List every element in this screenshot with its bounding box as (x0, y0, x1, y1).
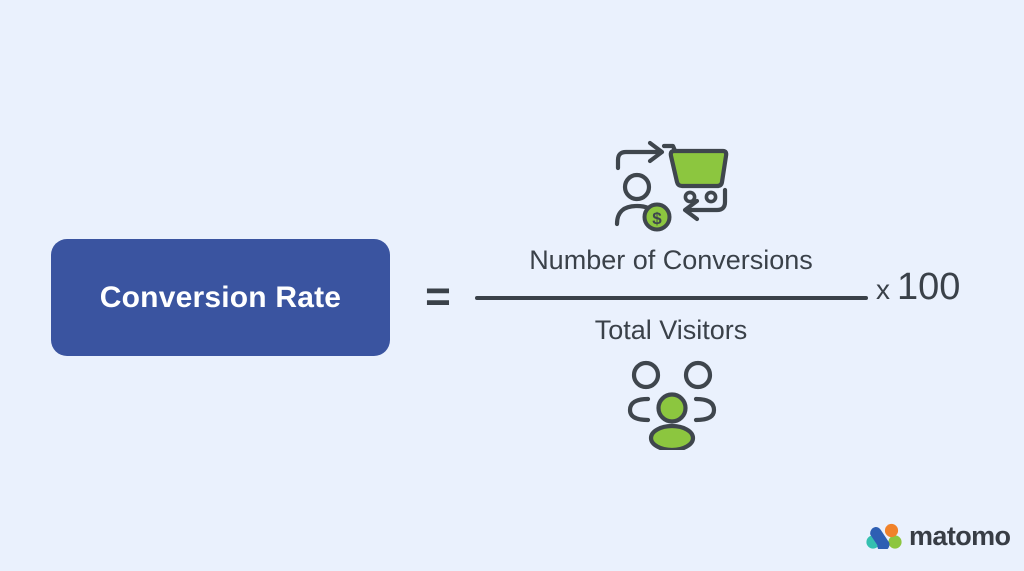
shopping-cart-customer-icon: $ (612, 138, 732, 233)
conversion-rate-term-label: Conversion Rate (100, 281, 341, 315)
svg-text:$: $ (652, 209, 662, 228)
fraction-denominator: Total Visitors (472, 315, 870, 346)
matomo-logo: matomo (866, 521, 1010, 551)
matomo-wordmark: matomo (909, 523, 1010, 550)
fraction-numerator: Number of Conversions (472, 245, 870, 276)
multiplier-group: x100 (876, 268, 960, 306)
multiplication-symbol: x (876, 274, 890, 305)
equals-sign: = (418, 271, 458, 323)
matomo-logo-mark (866, 523, 902, 549)
multiplier-value: 100 (897, 266, 960, 308)
conversion-rate-term-pill: Conversion Rate (51, 239, 390, 356)
conversion-rate-infographic: Conversion Rate = $ (0, 0, 1024, 571)
fraction-bar (475, 296, 868, 300)
visitors-group-icon (624, 358, 720, 450)
fraction: Number of Conversions Total Visitors (472, 245, 870, 355)
